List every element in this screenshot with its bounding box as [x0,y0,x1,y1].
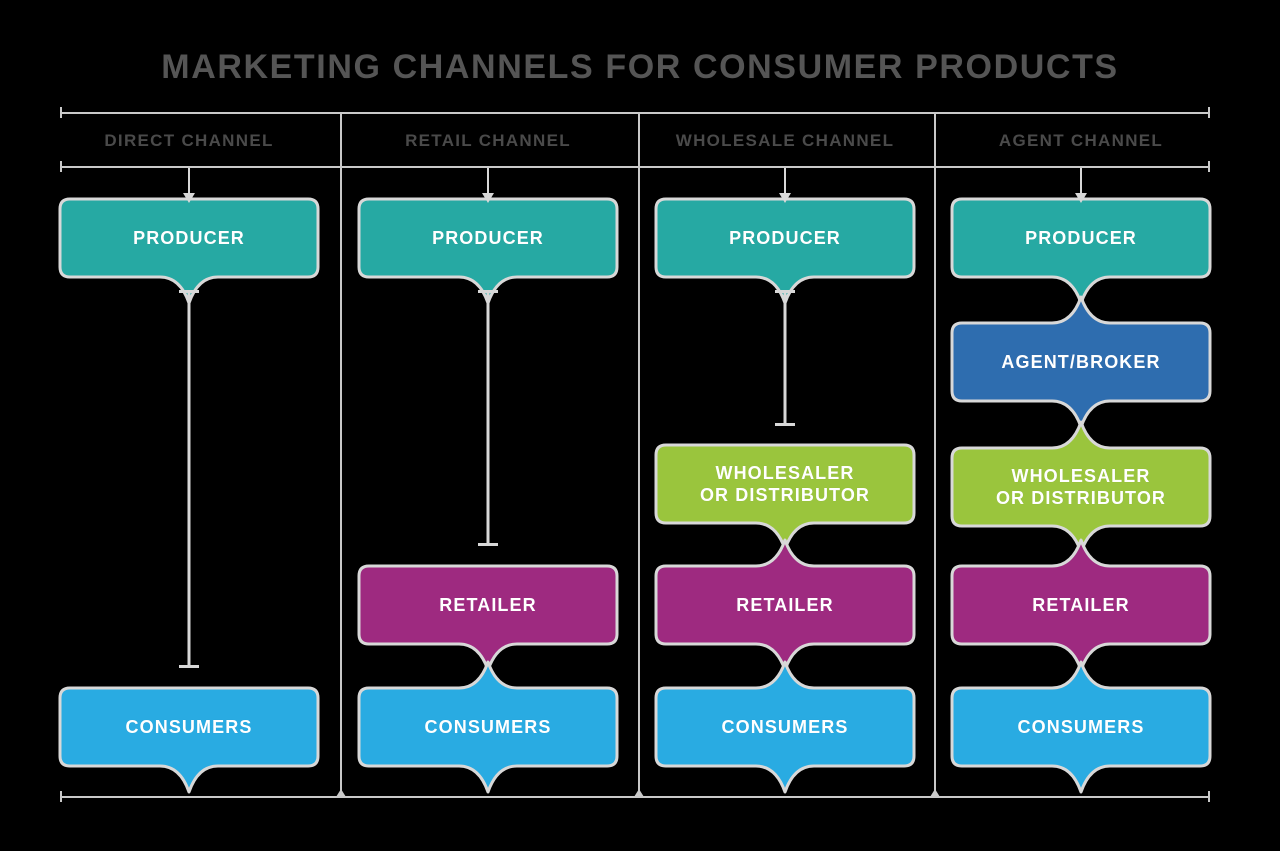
connector-stem [188,290,191,668]
diagram-canvas: MARKETING CHANNELS FOR CONSUMER PRODUCTS… [0,0,1280,851]
page-title: MARKETING CHANNELS FOR CONSUMER PRODUCTS [0,48,1280,87]
node-agent-channel-producer[interactable]: PRODUCER [952,199,1210,277]
connector-stem [487,290,490,546]
node-agent-channel-consumers[interactable]: CONSUMERS [952,688,1210,766]
flow-connector-col1-1 [177,290,201,668]
connector-cap-bottom [775,423,795,426]
node-wholesale-channel-producer[interactable]: PRODUCER [656,199,914,277]
connector-cap-bottom [478,543,498,546]
arrow-down-icon [183,193,195,203]
node-shape [622,654,948,800]
feed-connector-retail-channel [487,168,489,193]
node-retail-channel-producer[interactable]: PRODUCER [359,199,617,277]
node-shape [26,654,352,800]
node-direct-channel-producer[interactable]: PRODUCER [60,199,318,277]
node-shape [325,654,651,800]
node-agent-channel-wholesaler-or-distributor[interactable]: WHOLESALEROR DISTRIBUTOR [952,448,1210,526]
node-direct-channel-consumers[interactable]: CONSUMERS [60,688,318,766]
arrow-down-icon [779,193,791,203]
node-retail-channel-retailer[interactable]: RETAILER [359,566,617,644]
node-wholesale-channel-consumers[interactable]: CONSUMERS [656,688,914,766]
feed-connector-wholesale-channel [784,168,786,193]
connector-cap-bottom [179,665,199,668]
feed-connector-direct-channel [188,168,190,193]
column-header-wholesale-channel: WHOLESALE CHANNEL [645,126,925,156]
connector-stem [784,290,787,426]
column-header-direct-channel: DIRECT CHANNEL [49,126,329,156]
node-agent-channel-agent-broker[interactable]: AGENT/BROKER [952,323,1210,401]
node-wholesale-channel-wholesaler-or-distributor[interactable]: WHOLESALEROR DISTRIBUTOR [656,445,914,523]
arrow-down-icon [482,193,494,203]
rule-endcap-top-left [60,107,62,118]
node-agent-channel-retailer[interactable]: RETAILER [952,566,1210,644]
node-shape [918,654,1244,800]
flow-connector-col3-1 [773,290,797,426]
flow-connector-col2-1 [476,290,500,546]
feed-connector-agent-channel [1080,168,1082,193]
arrow-down-icon [1075,193,1087,203]
frame-rule-top [60,112,1210,114]
node-wholesale-channel-retailer[interactable]: RETAILER [656,566,914,644]
column-header-retail-channel: RETAIL CHANNEL [348,126,628,156]
node-retail-channel-consumers[interactable]: CONSUMERS [359,688,617,766]
rule-endcap-top-right [1208,107,1210,118]
column-header-agent-channel: AGENT CHANNEL [941,126,1221,156]
